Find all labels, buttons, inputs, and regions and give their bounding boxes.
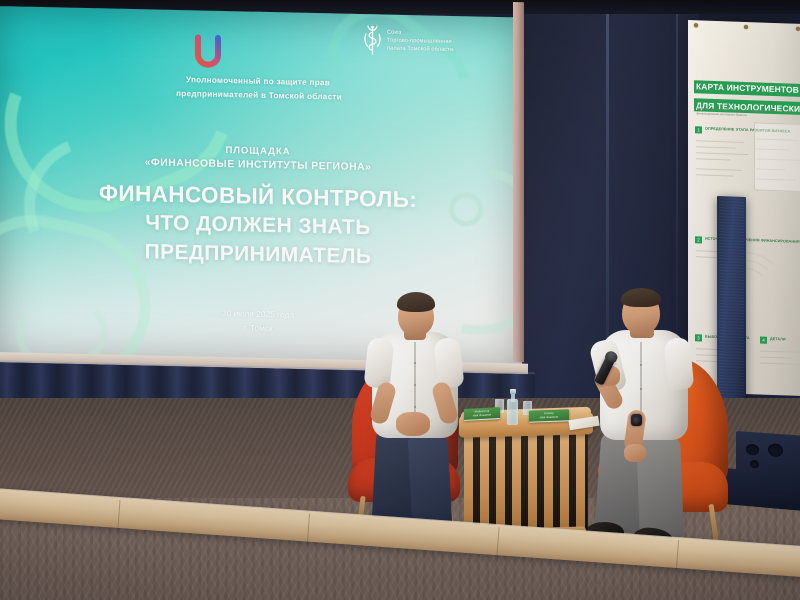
stage-edge-seam — [117, 500, 120, 528]
projection-screen: Союз Торгово-промышленная палата Томской… — [0, 6, 522, 370]
banner-title-line-1: КАРТА ИНСТРУМЕНТОВ — [694, 80, 800, 97]
hair — [621, 288, 661, 307]
water-bottle — [507, 389, 518, 425]
ombudsman-caption: Уполномоченный по защите прав предприним… — [0, 69, 522, 109]
table-slat — [544, 432, 553, 536]
banner-section-label: ДЕТАЛИ — [770, 337, 786, 342]
bottle-body — [507, 399, 518, 425]
speaker-driver — [746, 444, 759, 456]
shirt-button — [414, 384, 416, 386]
shirt-button — [640, 364, 642, 366]
table-slat — [560, 432, 569, 536]
stage-edge-seam — [307, 514, 310, 542]
speaker-port — [750, 460, 759, 469]
table-slat — [480, 432, 489, 536]
tpp-line-3: палата Томской области — [387, 45, 453, 55]
nameplate-moderator: Модератор Имя Фамилия — [464, 407, 500, 421]
slide-surface: Союз Торгово-промышленная палата Томской… — [0, 6, 522, 370]
banner-grommet — [694, 23, 698, 27]
table-slat — [528, 432, 537, 536]
slide-content: Союз Торгово-промышленная палата Томской… — [0, 6, 522, 370]
banner-section-number: 2 — [695, 236, 702, 243]
screen-frame-right — [513, 2, 524, 362]
hair — [397, 292, 435, 312]
side-table-body — [464, 432, 588, 536]
stage-monitor-speaker — [736, 431, 800, 492]
ombudsman-u-logo-icon — [192, 34, 224, 69]
photo-scene: Союз Торгово-промышленная палата Томской… — [0, 0, 800, 600]
nameplate-speaker: Спикер Имя Фамилия — [529, 409, 569, 422]
shirt-button — [640, 388, 642, 390]
banner-section-4: 4 ДЕТАЛИ — [760, 337, 786, 345]
stage-edge-seam — [497, 527, 500, 555]
banner-grommet — [796, 27, 800, 31]
banner-section-number: 3 — [695, 334, 702, 341]
table-slat — [496, 432, 505, 536]
table-slat — [576, 432, 585, 536]
sleeve-right — [664, 337, 694, 391]
speaker-driver — [768, 443, 783, 457]
banner-grommet — [744, 25, 748, 29]
table-slat — [464, 432, 473, 536]
banner-section-number: 4 — [760, 337, 767, 344]
nameplate-line-2: Имя Фамилия — [473, 414, 492, 419]
table-slat — [512, 432, 521, 536]
slide-title: ФИНАНСОВЫЙ КОНТРОЛЬ: ЧТО ДОЛЖЕН ЗНАТЬ ПР… — [0, 176, 522, 275]
sleeve-left — [363, 337, 394, 389]
stage-edge-seam — [676, 540, 679, 568]
smartwatch-face — [633, 417, 640, 424]
nameplate-line-2: Имя Фамилия — [540, 416, 559, 420]
bottle-cap — [510, 389, 516, 394]
shirt-button — [414, 362, 416, 364]
banner-section-number: 1 — [695, 126, 702, 133]
tpp-logo-text: Союз Торгово-промышленная палата Томской… — [387, 28, 453, 54]
caduceus-icon — [363, 23, 382, 57]
trousers-right-leg — [408, 433, 453, 531]
tpp-logo: Союз Торгово-промышленная палата Томской… — [363, 23, 453, 59]
shirt-button — [414, 406, 416, 408]
smartwatch — [631, 414, 642, 426]
bottle-neck — [511, 394, 515, 402]
hand-resting — [624, 444, 646, 462]
banner-table-box — [754, 122, 800, 192]
clasped-hands — [396, 412, 430, 436]
